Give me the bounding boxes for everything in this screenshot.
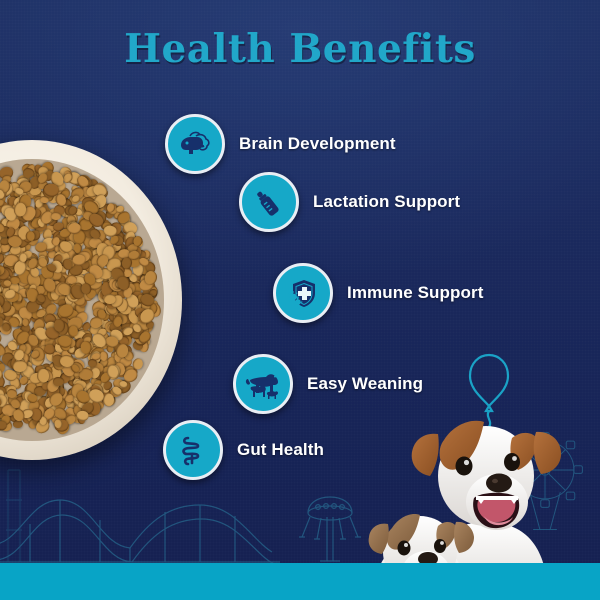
intestine-icon [163,420,223,480]
benefit-label: Immune Support [347,283,483,303]
benefit-label: Brain Development [239,134,396,154]
dog-with-puppies-icon [233,354,293,414]
swing-carousel-line-art [299,497,361,561]
roller-coaster-line-art [0,500,280,564]
benefit-item-lactation-support[interactable]: Lactation Support [239,172,460,232]
benefit-item-gut-health[interactable]: Gut Health [163,420,324,480]
benefit-item-brain-development[interactable]: Brain Development [165,114,396,174]
page-title: Health Benefits [0,26,600,72]
kibble-bowl-image [0,140,182,460]
benefit-label: Gut Health [237,440,324,460]
bottom-accent-bar [0,563,600,600]
health-benefits-poster: Health Benefits Brain Development [0,0,600,600]
dog-brain-icon [165,114,225,174]
baby-bottle-icon [239,172,299,232]
benefit-label: Lactation Support [313,192,460,212]
shield-plus-icon [273,263,333,323]
benefit-item-immune-support[interactable]: Immune Support [273,263,483,323]
tower-line-art [6,470,22,562]
